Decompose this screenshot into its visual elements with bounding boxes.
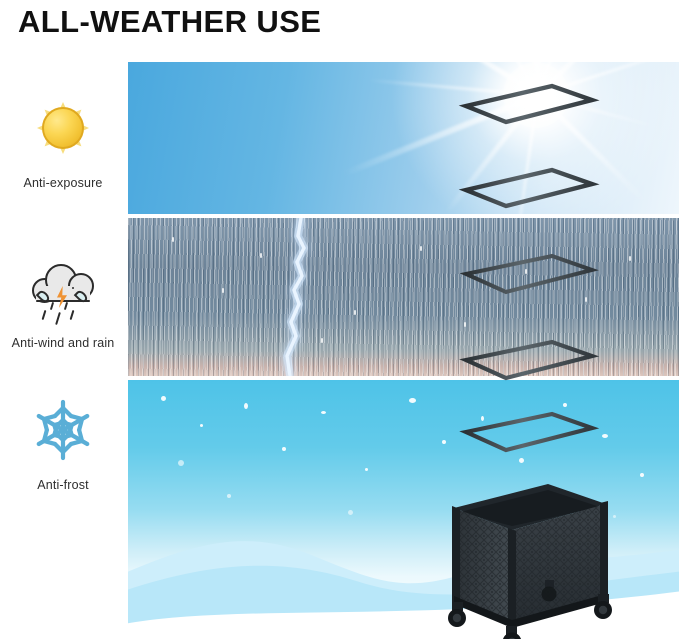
cloud-rain-lightning-icon	[25, 250, 101, 326]
page-title: ALL-WEATHER USE	[18, 2, 321, 42]
sun-disc	[42, 107, 84, 149]
feature-item-anti-wind-and-rain: Anti-wind and rain	[0, 250, 126, 350]
caster-wheel	[503, 626, 522, 639]
feature-list: Anti-exposure Anti-wind and rain	[0, 72, 126, 572]
feature-item-anti-frost: Anti-frost	[0, 392, 126, 492]
feature-label: Anti-frost	[0, 478, 126, 492]
sun-icon	[25, 90, 101, 166]
planter-box	[452, 484, 608, 628]
feature-label: Anti-exposure	[0, 176, 126, 190]
raised-garden-planter-with-greenhouse-frame	[424, 60, 634, 639]
lightning-bolt-photo	[282, 218, 316, 376]
feature-item-anti-exposure: Anti-exposure	[0, 90, 126, 190]
snowflake-icon	[25, 392, 101, 468]
feature-label: Anti-wind and rain	[0, 336, 126, 350]
